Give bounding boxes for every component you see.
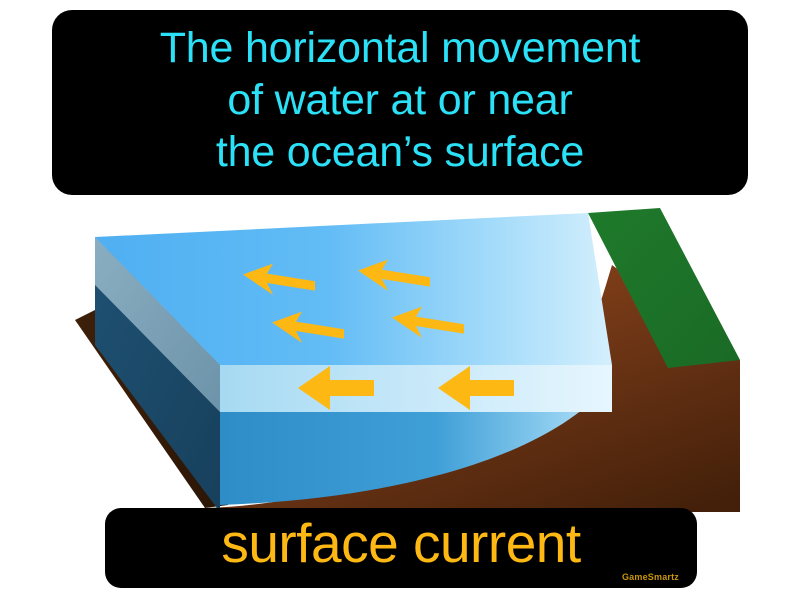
definition-line-1: The horizontal movement <box>160 22 641 74</box>
surface-current-band <box>220 365 612 412</box>
definition-banner: The horizontal movement of water at or n… <box>52 10 748 195</box>
flashcard-canvas: The horizontal movement of water at or n… <box>0 0 800 600</box>
term-banner: surface current GameSmartz <box>105 508 697 588</box>
definition-line-2: of water at or near <box>227 74 572 126</box>
definition-line-3: the ocean’s surface <box>216 126 584 178</box>
term-label: surface current <box>105 512 697 574</box>
watermark-label: GameSmartz <box>622 572 679 582</box>
